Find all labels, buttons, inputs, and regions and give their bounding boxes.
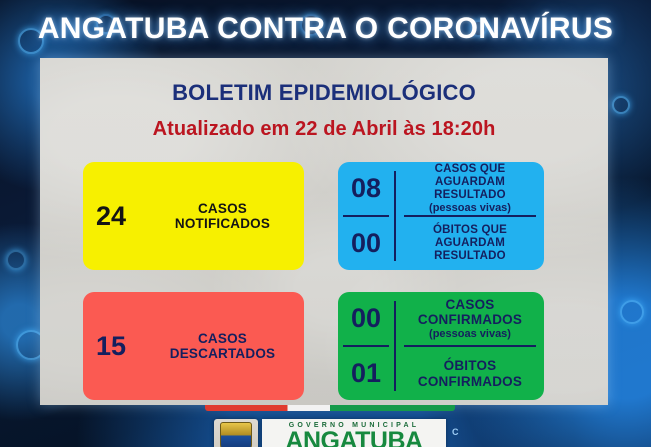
awaiting-cases-value: 08 <box>351 175 381 202</box>
confirmed-deaths-label-line2: CONFIRMADOS <box>418 374 522 389</box>
updated-timestamp: Atualizado em 22 de Abril às 18:20h <box>40 118 608 141</box>
stats-grid: 24 CASOS NOTIFICADOS 08 00 <box>83 162 583 400</box>
poster-root: ANGATUBA CONTRA O CORONAVÍRUS BOLETIM EP… <box>0 0 651 447</box>
discarded-number-cell: 15 <box>83 333 139 360</box>
coat-of-arms-icon <box>214 419 258 447</box>
awaiting-cases-label-line2: RESULTADO <box>434 189 506 202</box>
notified-label-line1: CASOS <box>198 201 247 216</box>
awaiting-cases-label-cell: CASOS QUE AGUARDAM RESULTADO (pessoas vi… <box>396 162 544 215</box>
confirmed-cases-sublabel: (pessoas vivas) <box>429 328 511 340</box>
awaiting-deaths-value: 00 <box>351 230 381 257</box>
virus-spore-icon <box>620 300 644 324</box>
headings-block: BOLETIM EPIDEMIOLÓGICO Atualizado em 22 … <box>40 58 608 141</box>
awaiting-deaths-label-cell: ÓBITOS QUE AGUARDAM RESULTADO <box>396 217 544 270</box>
confirmed-deaths-label-cell: ÓBITOS CONFIRMADOS <box>396 347 544 400</box>
municipal-logo: GOVERNO MUNICIPAL ANGATUBA <box>214 419 446 447</box>
confirmed-cases-label-cell: CASOS CONFIRMADOS (pessoas vivas) <box>396 292 544 345</box>
awaiting-deaths-label-line2: RESULTADO <box>434 250 506 263</box>
confirmed-label-column: CASOS CONFIRMADOS (pessoas vivas) ÓBITOS… <box>396 292 544 400</box>
awaiting-number-column: 08 00 <box>338 162 394 270</box>
awaiting-cases-number-cell: 08 <box>338 162 394 215</box>
awaiting-label-column: CASOS QUE AGUARDAM RESULTADO (pessoas vi… <box>396 162 544 270</box>
corner-watermark: C <box>452 427 459 437</box>
virus-spore-icon <box>612 96 630 114</box>
discarded-label-cell: CASOS DESCARTADOS <box>141 331 304 362</box>
confirmed-deaths-label-line1: ÓBITOS <box>444 358 497 373</box>
confirmed-deaths-value: 01 <box>351 360 381 387</box>
confirmed-cases-value: 00 <box>351 305 381 332</box>
card-casos-descartados: 15 CASOS DESCARTADOS <box>83 292 304 400</box>
virus-spore-icon <box>6 250 26 270</box>
content-panel: BOLETIM EPIDEMIOLÓGICO Atualizado em 22 … <box>40 58 608 405</box>
footer-bar: GOVERNO MUNICIPAL ANGATUBA C <box>0 405 651 447</box>
bulletin-heading: BOLETIM EPIDEMIOLÓGICO <box>40 80 608 106</box>
awaiting-cases-sublabel: (pessoas vivas) <box>429 202 511 214</box>
notified-label-cell: CASOS NOTIFICADOS <box>141 201 304 232</box>
logo-wordmark: GOVERNO MUNICIPAL ANGATUBA <box>262 419 446 447</box>
awaiting-deaths-number-cell: 00 <box>338 217 394 270</box>
card-aguardam-resultado: 08 00 CASOS QUE AGUARDAM RESULTADO (pess… <box>338 162 544 270</box>
title-banner: ANGATUBA CONTRA O CORONAVÍRUS <box>0 0 651 58</box>
card-casos-confirmados: 00 01 CASOS CONFIRMADOS (pessoas vivas) <box>338 292 544 400</box>
card-casos-notificados: 24 CASOS NOTIFICADOS <box>83 162 304 270</box>
discarded-label-line1: CASOS <box>198 331 247 346</box>
confirmed-number-column: 00 01 <box>338 292 394 400</box>
confirmed-cases-label-line2: CONFIRMADOS <box>418 312 522 327</box>
flag-stripe <box>205 405 455 411</box>
notified-value: 24 <box>96 203 126 230</box>
awaiting-cases-label-line1: CASOS QUE AGUARDAM <box>401 163 539 189</box>
confirmed-cases-number-cell: 00 <box>338 292 394 345</box>
awaiting-deaths-label-line1: ÓBITOS QUE AGUARDAM <box>401 224 539 250</box>
coat-of-arms-shield-icon <box>220 422 252 447</box>
confirmed-cases-label-line1: CASOS <box>445 297 494 312</box>
notified-number-cell: 24 <box>83 203 139 230</box>
confirmed-deaths-number-cell: 01 <box>338 347 394 400</box>
discarded-label-line2: DESCARTADOS <box>170 346 275 361</box>
poster-title: ANGATUBA CONTRA O CORONAVÍRUS <box>38 12 613 46</box>
logo-city-line: ANGATUBA <box>285 430 422 447</box>
discarded-value: 15 <box>96 333 126 360</box>
notified-label-line2: NOTIFICADOS <box>175 216 270 231</box>
